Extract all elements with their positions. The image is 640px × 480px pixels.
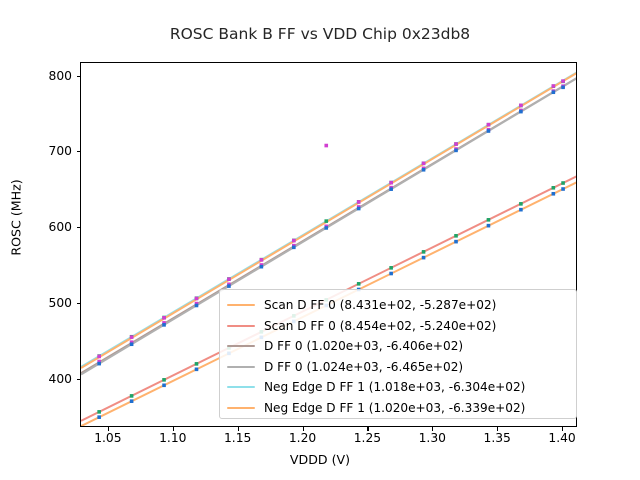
data-point bbox=[324, 144, 328, 148]
x-tick-label: 1.40 bbox=[548, 431, 575, 445]
data-point bbox=[422, 168, 426, 172]
data-point bbox=[195, 368, 199, 372]
data-point bbox=[519, 202, 523, 206]
data-point bbox=[130, 399, 134, 403]
legend-item[interactable]: Neg Edge D FF 1 (1.018e+03, -6.304e+02) bbox=[227, 377, 568, 398]
legend-color-swatch bbox=[227, 366, 255, 368]
legend-color-swatch bbox=[227, 304, 255, 306]
data-point bbox=[324, 226, 328, 230]
data-point bbox=[519, 110, 523, 114]
legend-color-swatch bbox=[227, 407, 255, 409]
data-point bbox=[519, 208, 523, 212]
data-point bbox=[357, 200, 361, 204]
legend-label: D FF 0 (1.024e+03, -6.465e+02) bbox=[264, 361, 463, 373]
data-point bbox=[227, 277, 231, 281]
legend-label: Neg Edge D FF 1 (1.020e+03, -6.339e+02) bbox=[264, 402, 525, 414]
data-point bbox=[324, 219, 328, 223]
data-point bbox=[422, 256, 426, 260]
data-point bbox=[389, 272, 393, 276]
y-tick-label: 800 bbox=[0, 69, 80, 83]
legend-item[interactable]: D FF 0 (1.020e+03, -6.406e+02) bbox=[227, 336, 568, 357]
data-point bbox=[561, 187, 565, 191]
x-tick-mark bbox=[173, 427, 174, 431]
data-point bbox=[162, 383, 166, 387]
data-point bbox=[552, 192, 556, 196]
y-tick-label: 400 bbox=[0, 372, 80, 386]
x-tick-mark bbox=[108, 427, 109, 431]
x-tick-label: 1.05 bbox=[94, 431, 121, 445]
data-point bbox=[561, 86, 565, 90]
legend-item[interactable]: Neg Edge D FF 1 (1.020e+03, -6.339e+02) bbox=[227, 398, 568, 419]
data-point bbox=[454, 234, 458, 238]
data-point bbox=[162, 323, 166, 327]
chart-title: ROSC Bank B FF vs VDD Chip 0x23db8 bbox=[0, 25, 640, 43]
y-axis-label: ROSC (MHz) bbox=[9, 158, 24, 278]
x-tick-mark bbox=[432, 427, 433, 431]
data-point bbox=[292, 246, 296, 250]
legend-label: D FF 0 (1.020e+03, -6.406e+02) bbox=[264, 340, 463, 352]
x-tick-label: 1.10 bbox=[159, 431, 186, 445]
legend-color-swatch bbox=[227, 345, 255, 347]
y-tick-label: 500 bbox=[0, 296, 80, 310]
x-tick-mark bbox=[367, 427, 368, 431]
chart-legend[interactable]: Scan D FF 0 (8.431e+02, -5.287e+02)Scan … bbox=[219, 289, 577, 419]
legend-color-swatch bbox=[227, 325, 255, 327]
legend-color-swatch bbox=[227, 386, 255, 388]
data-point bbox=[487, 224, 491, 228]
data-point bbox=[519, 104, 523, 108]
data-point bbox=[195, 362, 199, 366]
data-point bbox=[260, 265, 264, 269]
legend-item[interactable]: D FF 0 (1.024e+03, -6.465e+02) bbox=[227, 357, 568, 378]
data-point bbox=[195, 304, 199, 308]
legend-item[interactable]: Scan D FF 0 (8.431e+02, -5.287e+02) bbox=[227, 295, 568, 316]
data-point bbox=[357, 207, 361, 211]
data-point bbox=[552, 186, 556, 190]
legend-item[interactable]: Scan D FF 0 (8.454e+02, -5.240e+02) bbox=[227, 316, 568, 337]
data-point bbox=[389, 266, 393, 270]
data-point bbox=[97, 362, 101, 366]
data-point bbox=[487, 123, 491, 127]
y-tick-label: 700 bbox=[0, 144, 80, 158]
data-point bbox=[454, 240, 458, 244]
data-point bbox=[292, 239, 296, 243]
x-tick-label: 1.35 bbox=[483, 431, 510, 445]
data-point bbox=[162, 316, 166, 320]
x-tick-label: 1.20 bbox=[289, 431, 316, 445]
data-point bbox=[130, 342, 134, 346]
data-point bbox=[561, 181, 565, 185]
x-axis-label: VDDD (V) bbox=[0, 452, 640, 467]
data-point bbox=[561, 79, 565, 83]
x-tick-mark bbox=[303, 427, 304, 431]
data-point bbox=[97, 355, 101, 359]
x-tick-label: 1.15 bbox=[224, 431, 251, 445]
x-tick-label: 1.25 bbox=[354, 431, 381, 445]
data-point bbox=[97, 415, 101, 419]
legend-label: Neg Edge D FF 1 (1.018e+03, -6.304e+02) bbox=[264, 381, 525, 393]
x-tick-mark bbox=[497, 427, 498, 431]
data-point bbox=[422, 162, 426, 166]
data-point bbox=[357, 282, 361, 286]
data-point bbox=[487, 218, 491, 222]
x-tick-label: 1.30 bbox=[419, 431, 446, 445]
data-point bbox=[454, 149, 458, 153]
data-point bbox=[130, 394, 134, 398]
data-point bbox=[260, 258, 264, 262]
data-point bbox=[130, 335, 134, 339]
data-point bbox=[195, 297, 199, 301]
data-point bbox=[389, 187, 393, 191]
x-tick-mark bbox=[562, 427, 563, 431]
x-tick-mark bbox=[238, 427, 239, 431]
data-point bbox=[227, 284, 231, 288]
data-point bbox=[552, 84, 556, 88]
legend-label: Scan D FF 0 (8.431e+02, -5.287e+02) bbox=[264, 299, 496, 311]
data-point bbox=[552, 90, 556, 94]
data-point bbox=[422, 250, 426, 254]
data-point bbox=[487, 129, 491, 133]
data-point bbox=[389, 181, 393, 185]
y-tick-label: 600 bbox=[0, 220, 80, 234]
data-point bbox=[97, 410, 101, 414]
figure: ROSC Bank B FF vs VDD Chip 0x23db8 ROSC … bbox=[0, 0, 640, 480]
legend-label: Scan D FF 0 (8.454e+02, -5.240e+02) bbox=[264, 320, 496, 332]
data-point bbox=[162, 378, 166, 382]
data-point bbox=[454, 142, 458, 146]
